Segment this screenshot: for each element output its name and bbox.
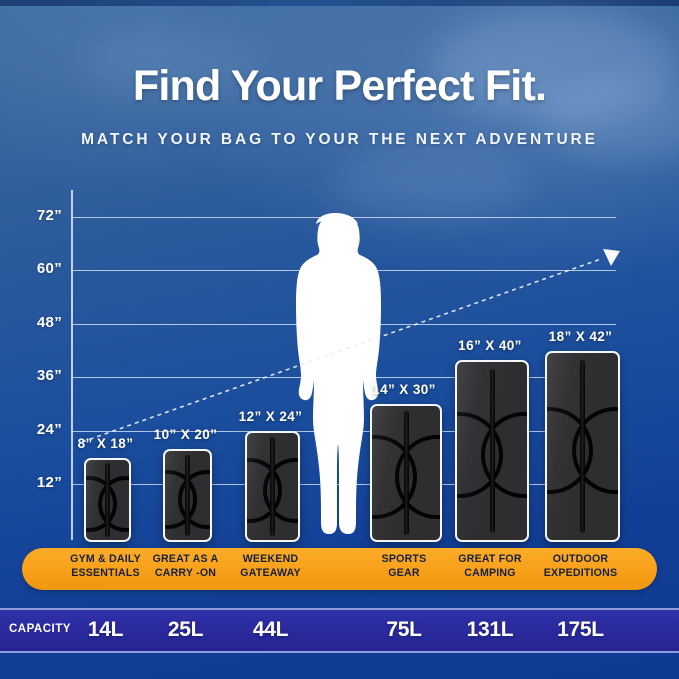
bag-bar[interactable] (455, 360, 529, 542)
bag-dimension-label: 18” X 42” (541, 329, 621, 344)
bag-dimension-label: 12” X 24” (231, 409, 311, 424)
category-band: GYM & DAILYESSENTIALSGREAT AS ACARRY -ON… (22, 548, 657, 590)
y-axis-tick-label: 36” (14, 367, 62, 384)
bag-bar[interactable] (84, 458, 131, 542)
bag-bar[interactable] (163, 449, 212, 542)
y-axis-line (71, 190, 73, 540)
capacity-band: CAPACITY 14L25L44L75L131L175L (0, 608, 679, 653)
bag-sheen (86, 460, 129, 540)
bag-sheen (372, 406, 440, 540)
y-axis-tick-label: 72” (14, 207, 62, 224)
bag-dimension-label: 14” X 30” (364, 382, 444, 397)
bag-bar[interactable] (245, 431, 300, 542)
bag-sheen (247, 433, 298, 540)
infographic-poster: Find Your Perfect Fit. MATCH YOUR BAG TO… (0, 0, 679, 679)
category-label: WEEKENDGATEAWAY (216, 553, 326, 580)
y-axis-tick-label: 60” (14, 260, 62, 277)
bag-bar[interactable] (545, 351, 620, 542)
capacity-value: 75L (354, 618, 454, 642)
bag-sheen (457, 362, 527, 540)
y-axis-tick-label: 12” (14, 474, 62, 491)
capacity-value: 131L (440, 618, 540, 642)
bag-sheen (165, 451, 210, 540)
bag-dimension-label: 10” X 20” (146, 427, 226, 442)
y-axis-tick-label: 24” (14, 421, 62, 438)
bag-bar[interactable] (370, 404, 442, 542)
bag-dimension-label: 8” X 18” (66, 436, 146, 451)
bag-dimension-label: 16” X 40” (450, 338, 530, 353)
capacity-value: 175L (531, 618, 631, 642)
category-label: OUTDOOREXPEDITIONS (526, 553, 636, 580)
capacity-value: 44L (221, 618, 321, 642)
y-axis-tick-label: 48” (14, 314, 62, 331)
bag-sheen (547, 353, 618, 540)
